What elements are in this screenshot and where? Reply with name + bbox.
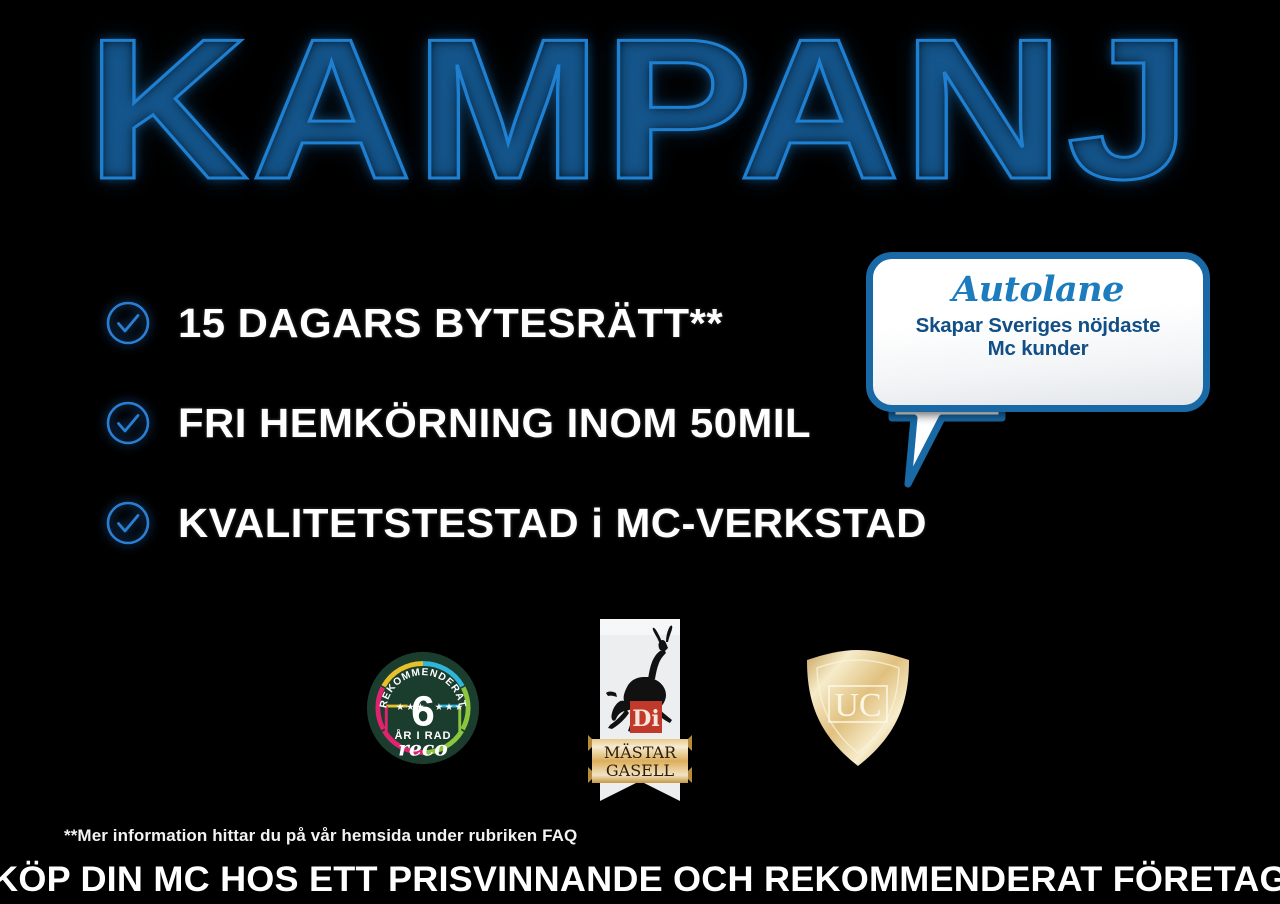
autolane-logo: Autolane	[952, 271, 1124, 310]
footnote-text: **Mer information hittar du på vår hemsi…	[64, 826, 577, 846]
list-item: KVALITETSTESTAD i MC-VERKSTAD	[104, 490, 1004, 556]
svg-text:Di: Di	[632, 706, 659, 732]
svg-text:reco: reco	[398, 736, 447, 760]
tagline-text: KÖP DIN MC HOS ETT PRISVINNANDE OCH REKO…	[0, 860, 1280, 900]
uc-badge: UC	[803, 648, 913, 770]
svg-text:UC: UC	[834, 687, 881, 724]
check-circle-icon	[104, 399, 152, 447]
svg-text:6: 6	[411, 687, 435, 735]
svg-text:GASELL: GASELL	[606, 761, 675, 780]
list-item-label: KVALITETSTESTAD i MC-VERKSTAD	[178, 503, 927, 544]
tagline: KÖP DIN MC HOS ETT PRISVINNANDE OCH REKO…	[0, 860, 1280, 900]
page-title: KAMPANJ	[87, 18, 1194, 202]
di-mastar-gasell-badge: Di	[586, 615, 694, 815]
reco-badge: REKOMMENDERAT ★★★ ★★★ 6 ÅR I RAD reco	[365, 650, 481, 766]
award-badges: REKOMMENDERAT ★★★ ★★★ 6 ÅR I RAD reco	[0, 600, 1280, 820]
speech-bubble-line-1: Skapar Sveriges nöjdaste	[916, 314, 1161, 338]
autolane-speech-bubble: Autolane Skapar Sveriges nöjdaste Mc kun…	[866, 252, 1210, 462]
speech-bubble-body: Autolane Skapar Sveriges nöjdaste Mc kun…	[866, 252, 1210, 412]
list-item-label: FRI HEMKÖRNING INOM 50MIL	[178, 403, 811, 444]
check-circle-icon	[104, 299, 152, 347]
title-area: KAMPANJ	[0, 18, 1280, 202]
svg-text:MÄSTAR: MÄSTAR	[604, 742, 677, 762]
check-circle-icon	[104, 499, 152, 547]
campaign-banner: KAMPANJ 15 DAGARS BYTESRÄTT** FRI HEMKÖR…	[0, 0, 1280, 904]
speech-bubble-tail-icon	[884, 400, 1014, 490]
list-item-label: 15 DAGARS BYTESRÄTT**	[178, 303, 723, 344]
speech-bubble-line-2: Mc kunder	[916, 337, 1161, 361]
svg-text:★★★: ★★★	[435, 702, 465, 713]
speech-bubble-text: Skapar Sveriges nöjdaste Mc kunder	[916, 314, 1161, 362]
